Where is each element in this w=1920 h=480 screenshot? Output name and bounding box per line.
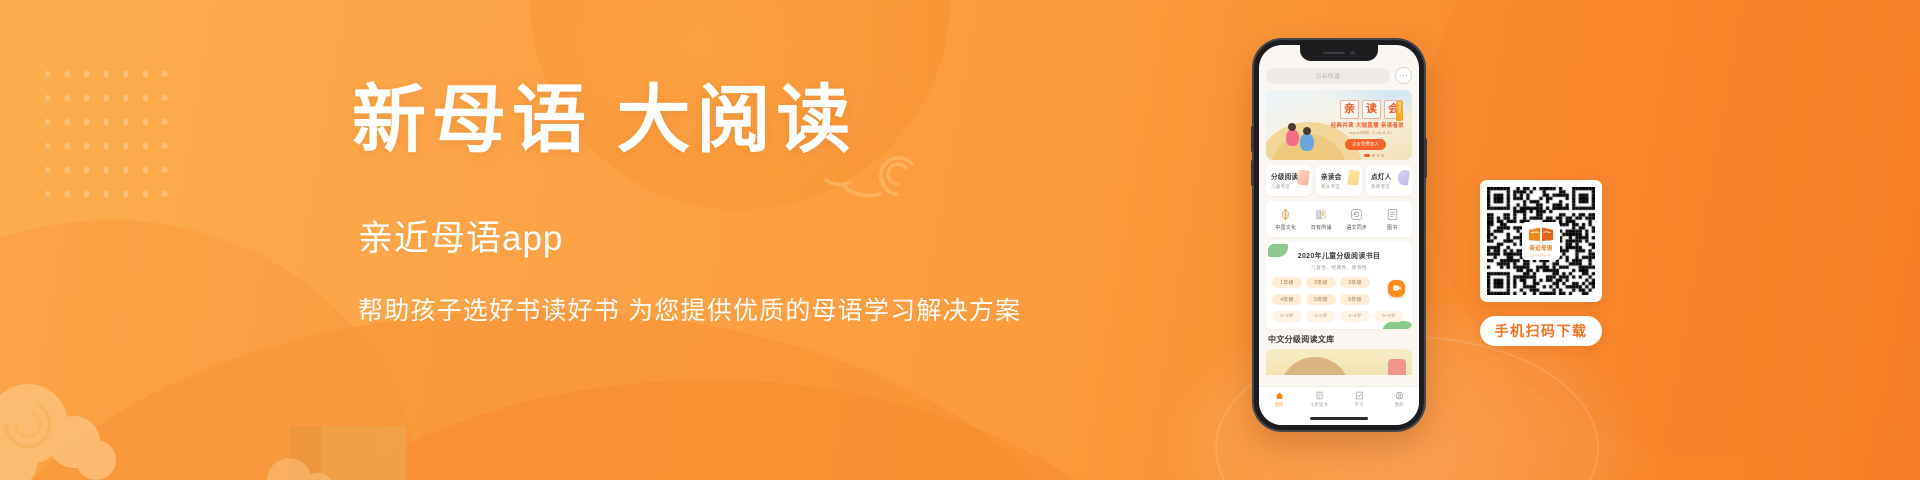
- quick-item-chinese-culture[interactable]: 中国文化: [1268, 208, 1304, 231]
- library-illustration: [1280, 357, 1350, 375]
- age-chip[interactable]: 3~4岁: [1306, 311, 1336, 322]
- banner-copy: 新母语 大阅读 亲近母语app 帮助孩子选好书读好书 为您提供优质的母语学习解决…: [352, 84, 1052, 327]
- tab-study[interactable]: 学习: [1339, 391, 1379, 408]
- quick-item-daily-recite[interactable]: 日有所诵: [1304, 208, 1340, 231]
- grade-chip-row-1: 1年级 2年级 3年级: [1272, 277, 1406, 288]
- age-chip[interactable]: 4~5岁: [1340, 311, 1370, 322]
- decor-dot-grid: [36, 60, 174, 208]
- quick-item-textbook-sync[interactable]: 语文同步: [1339, 208, 1375, 231]
- booklist-subtitle: 儿童性、经典性、教育性: [1272, 264, 1406, 271]
- cloud-swirl-icon: [0, 356, 138, 480]
- book-open-icon: [1315, 208, 1328, 221]
- hero-char-1: 亲: [1340, 100, 1359, 119]
- camera-icon: [1350, 51, 1355, 56]
- grade-chip[interactable]: 6年级: [1340, 294, 1370, 305]
- video-play-icon[interactable]: [1388, 280, 1405, 297]
- promo-banner: 新母语 大阅读 亲近母语app 帮助孩子选好书读好书 为您提供优质的母语学习解决…: [0, 0, 1920, 480]
- kid-illustration-a: [1286, 129, 1299, 146]
- tab-label: 首页: [1275, 402, 1284, 408]
- search-input[interactable]: 日有所诵: [1266, 68, 1390, 84]
- grade-chip[interactable]: 1年级: [1272, 277, 1302, 288]
- tab-label: 小步读书: [1310, 402, 1328, 408]
- quick-item-label: 语文同步: [1346, 224, 1367, 231]
- library-book-decor: [1388, 359, 1406, 375]
- book-pink-icon: [1297, 169, 1310, 185]
- more-dots-icon[interactable]: [1395, 67, 1412, 84]
- grade-chip[interactable]: 5年级: [1306, 294, 1336, 305]
- play-glyph: [1392, 283, 1402, 293]
- library-title: 中文分级阅读文库: [1268, 334, 1410, 345]
- quick-item-label: 中国文化: [1275, 224, 1296, 231]
- hero-char-2: 读: [1362, 100, 1381, 119]
- tab-profile[interactable]: 我的: [1379, 391, 1419, 408]
- phone-power-button: [1424, 138, 1427, 178]
- search-placeholder: 日有所诵: [1316, 72, 1340, 80]
- lantern-icon: [1279, 208, 1292, 221]
- grade-chip[interactable]: 2年级: [1306, 277, 1336, 288]
- leaf-decor-bottom-icon: [1382, 321, 1412, 329]
- tab-label: 我的: [1395, 402, 1404, 408]
- speaker-icon: [1323, 52, 1345, 55]
- quick-icon-row: 中国文化 日有所诵: [1266, 201, 1412, 237]
- tab-label: 学习: [1355, 402, 1364, 408]
- qr-logo-subtitle: 点亮孩子的心灵: [1532, 253, 1551, 257]
- tab-reading[interactable]: 小步读书: [1299, 391, 1339, 408]
- banner-tagline: 帮助孩子选好书读好书 为您提供优质的母语学习解决方案: [358, 291, 1052, 327]
- user-icon: [1395, 391, 1404, 400]
- cloud-small-icon: [262, 439, 358, 480]
- app-content: 日有所诵 亲 读 会 报名中 经典: [1259, 45, 1419, 425]
- home-indicator: [1310, 417, 1368, 420]
- age-chip[interactable]: 5~6岁: [1374, 311, 1404, 322]
- hero-title: 亲 读 会: [1340, 100, 1403, 119]
- hero-side-tag: 报名中: [1396, 101, 1403, 121]
- open-book-logo-icon: [1527, 226, 1555, 243]
- category-card-parent-club[interactable]: 亲读会 家长专区: [1316, 165, 1362, 196]
- grade-chip[interactable]: 3年级: [1340, 277, 1370, 288]
- app-name: 亲近母语app: [358, 210, 1052, 261]
- booklist-title: 2020年儿童分级阅读书目: [1272, 251, 1406, 261]
- hero-date: report时间: 9.16-9.27: [1349, 130, 1392, 136]
- decor-block: [320, 426, 406, 480]
- booklist-section: 2020年儿童分级阅读书目 儿童性、经典性、教育性 1年级 2年级 3年级: [1266, 242, 1412, 329]
- category-card-graded-reading[interactable]: 分级阅读 儿童专区: [1266, 165, 1312, 196]
- qr-center-logo: 亲近母语 点亮孩子的心灵: [1522, 222, 1560, 260]
- checklist-icon: [1355, 391, 1364, 400]
- hero-cta-button[interactable]: 点击免费加入: [1345, 139, 1386, 150]
- decor-wave-bottom: [0, 310, 1110, 480]
- age-chip[interactable]: 0~3岁: [1272, 311, 1302, 322]
- category-card-teacher[interactable]: 点灯人 教师专区: [1366, 165, 1412, 196]
- page-title: 新母语 大阅读: [352, 84, 1052, 158]
- age-chip-row: 0~3岁 3~4岁 4~5岁 5~6岁: [1272, 311, 1406, 322]
- category-cards: 分级阅读 儿童专区 亲读会 家长专区 点灯人 教师专区: [1266, 165, 1412, 196]
- grade-chip-row-2: 4年级 5年级 6年级: [1272, 294, 1406, 305]
- home-icon: [1275, 391, 1284, 400]
- phone-mockup: 日有所诵 亲 读 会 报名中 经典: [1254, 40, 1424, 430]
- tab-home[interactable]: 首页: [1259, 391, 1299, 408]
- list-book-icon: [1386, 208, 1399, 221]
- phone-notch: [1300, 45, 1378, 61]
- quick-item-label: 日有所诵: [1311, 224, 1332, 231]
- phone-screen: 日有所诵 亲 读 会 报名中 经典: [1259, 45, 1419, 425]
- grade-chip[interactable]: 4年级: [1272, 294, 1302, 305]
- hero-subtitle: 经典共读 大咖直播 亲读者说: [1331, 121, 1404, 129]
- kid-illustration-b: [1300, 133, 1314, 151]
- qr-logo-name: 亲近母语: [1529, 244, 1552, 252]
- app-search-row: 日有所诵: [1266, 67, 1412, 84]
- book-icon: [1315, 391, 1324, 400]
- book-yellow-icon: [1347, 169, 1360, 185]
- qr-block: 亲近母语 点亮孩子的心灵 手机扫码下载: [1480, 180, 1602, 346]
- decor-wave-bottom-2: [220, 380, 1200, 480]
- hero-pager[interactable]: [1364, 154, 1384, 157]
- scan-download-button[interactable]: 手机扫码下载: [1480, 316, 1602, 346]
- qr-code-card: 亲近母语 点亮孩子的心灵: [1480, 180, 1602, 302]
- refresh-circle-icon: [1350, 208, 1363, 221]
- app-hero-banner[interactable]: 亲 读 会 报名中 经典共读 大咖直播 亲读者说 report时间: 9.16-…: [1266, 90, 1412, 160]
- book-purple-icon: [1397, 169, 1410, 185]
- library-card[interactable]: [1266, 349, 1412, 375]
- quick-item-label: 图书: [1387, 224, 1397, 231]
- quick-item-books[interactable]: 图书: [1375, 208, 1411, 231]
